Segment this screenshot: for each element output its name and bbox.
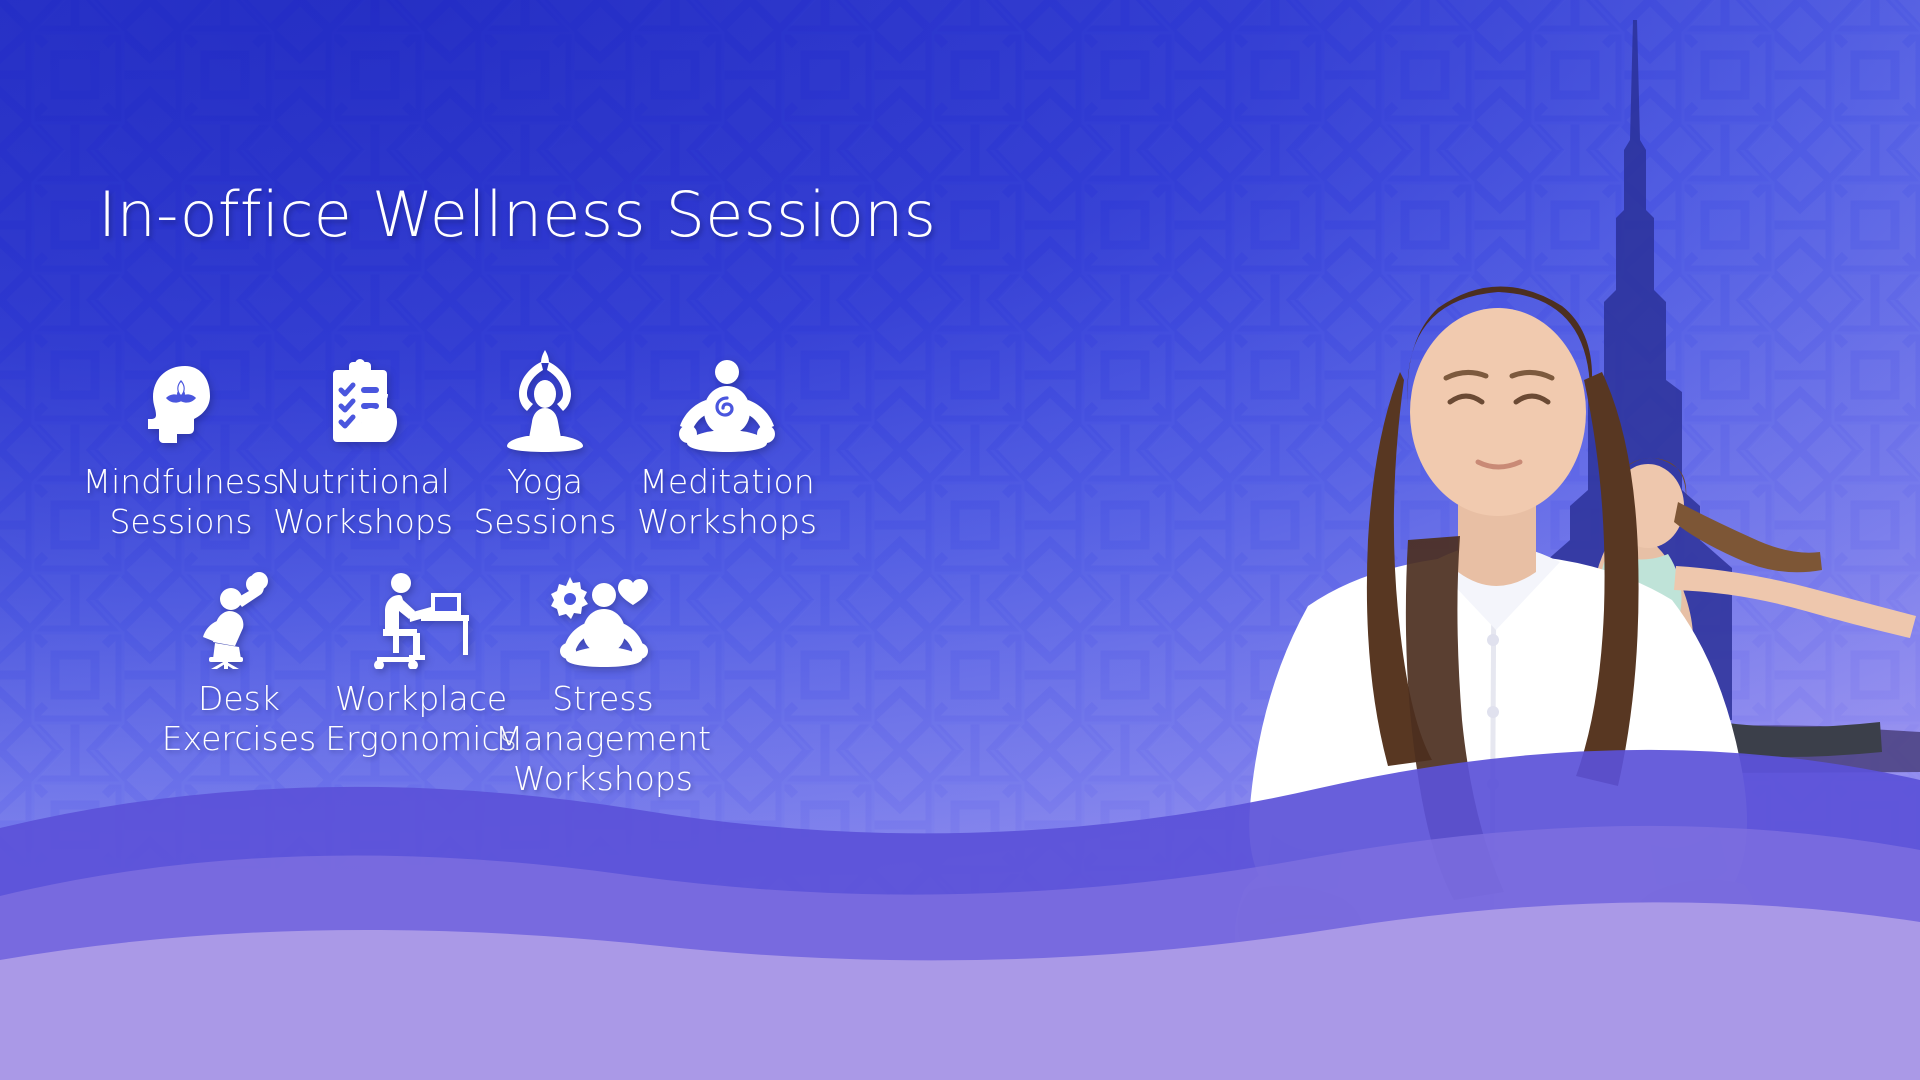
yoga-arms-up-icon — [497, 348, 593, 452]
service-meditation-workshops[interactable]: Meditation Workshops — [636, 348, 818, 543]
service-nutritional-workshops[interactable]: Nutritional Workshops — [272, 348, 454, 543]
service-workplace-ergonomics[interactable]: Workplace Ergonomics — [330, 565, 512, 800]
meditation-lotus-icon — [672, 348, 782, 452]
service-label: Desk Exercises — [162, 679, 317, 760]
service-mindfulness-sessions[interactable]: Mindfulness Sessions — [90, 348, 272, 543]
service-stress-management-workshops[interactable]: Stress Management Workshops — [512, 565, 694, 800]
services-grid: Mindfulness Sessions — [90, 348, 970, 799]
service-label: Workplace Ergonomics — [325, 679, 517, 760]
service-label: Mindfulness Sessions — [83, 462, 280, 543]
services-row-1: Mindfulness Sessions — [90, 348, 970, 543]
ergonomic-chair-icon — [369, 565, 473, 669]
wellness-banner: In-office Wellness Sessions — [0, 0, 1920, 1080]
desk-stretch-icon — [191, 565, 287, 669]
services-row-2: Desk Exercises — [148, 565, 970, 800]
head-lotus-icon — [133, 348, 229, 452]
clipboard-apple-icon — [315, 348, 411, 452]
service-desk-exercises[interactable]: Desk Exercises — [148, 565, 330, 800]
service-label: Yoga Sessions — [473, 462, 616, 543]
service-label: Meditation Workshops — [637, 462, 817, 543]
service-yoga-sessions[interactable]: Yoga Sessions — [454, 348, 636, 543]
gear-person-heart-icon — [548, 565, 658, 669]
service-label: Stress Management Workshops — [495, 679, 711, 800]
page-title: In-office Wellness Sessions — [98, 178, 936, 251]
service-label: Nutritional Workshops — [273, 462, 453, 543]
